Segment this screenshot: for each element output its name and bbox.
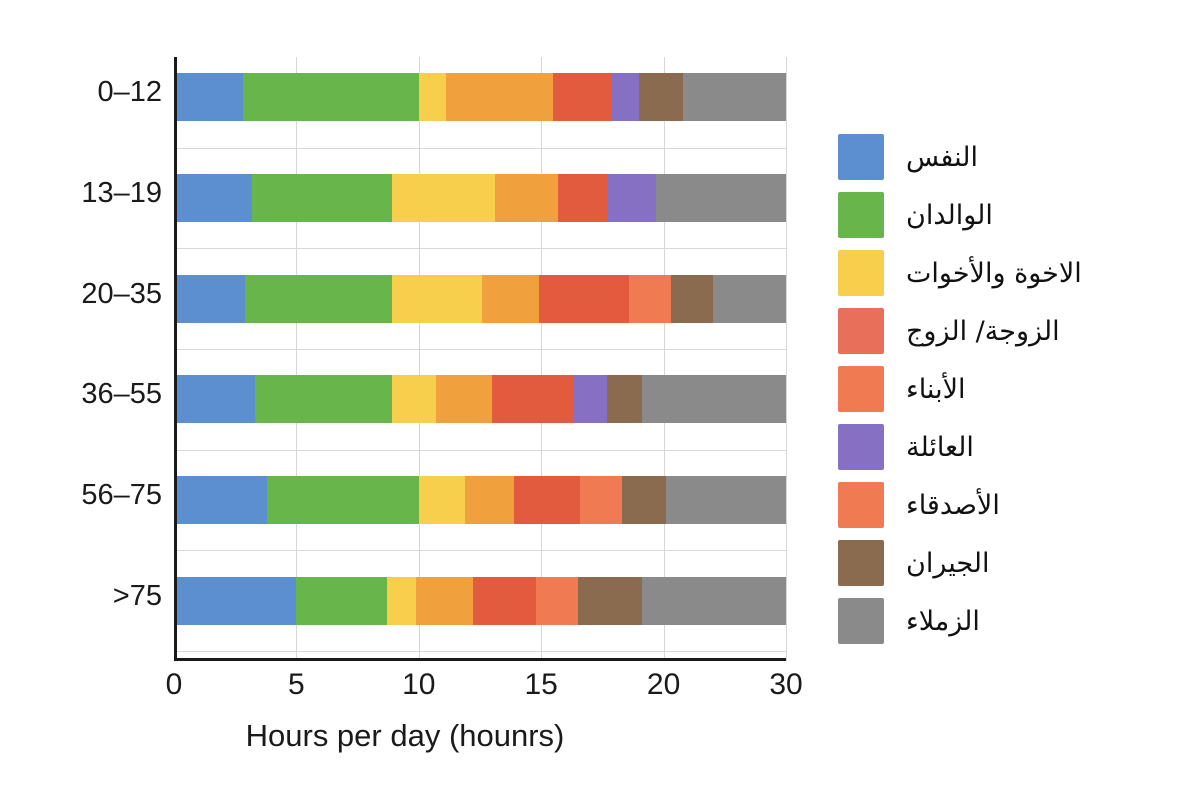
legend-swatch-icon [838, 482, 884, 528]
y-axis-tick-text: 13–19 [81, 177, 162, 210]
plot-area [174, 57, 786, 661]
x-axis-tick-label: 5 [288, 668, 305, 702]
legend-item[interactable]: الزوجة/ الزوج [838, 302, 1168, 360]
legend-swatch-icon [838, 424, 884, 470]
legend-item[interactable]: الجيران [838, 534, 1168, 592]
legend-swatch-icon [838, 250, 884, 296]
x-axis-label: Hours per day (hounrs) [0, 718, 810, 754]
y-axis-tick-text: >75 [113, 580, 162, 613]
legend-item-label: الزوجة/ الزوج [906, 316, 1060, 347]
legend-swatch-icon [838, 366, 884, 412]
x-axis-tick-label: 20 [647, 668, 680, 702]
y-axis-tick-text: 36–55 [81, 378, 162, 411]
legend-item[interactable]: العائلة [838, 418, 1168, 476]
legend-item-label: النفس [906, 142, 978, 173]
legend-item-label: الزملاء [906, 606, 980, 637]
x-axis-tick-label: 15 [525, 668, 558, 702]
legend-item[interactable]: النفس [838, 128, 1168, 186]
legend-item[interactable]: الزملاء [838, 592, 1168, 650]
y-axis-tick-text: 0–12 [97, 76, 162, 109]
x-axis-tick-label: 0 [166, 668, 183, 702]
y-axis-tick-text: 20–35 [81, 278, 162, 311]
legend-item-label: الأبناء [906, 374, 965, 405]
legend-swatch-icon [838, 192, 884, 238]
x-axis-tick-label: 10 [402, 668, 435, 702]
chart-root: 0–1213–1920–3536–5556–75>75 0510152030 H… [0, 0, 1200, 800]
legend-item-label: الوالدان [906, 200, 993, 231]
legend-item-label: الأصدقاء [906, 490, 1000, 521]
legend-swatch-icon [838, 540, 884, 586]
legend-item[interactable]: الوالدان [838, 186, 1168, 244]
legend-swatch-icon [838, 598, 884, 644]
legend-item-label: العائلة [906, 432, 974, 463]
gridline [786, 57, 787, 661]
legend-item-label: الجيران [906, 548, 990, 579]
legend-item[interactable]: الأصدقاء [838, 476, 1168, 534]
y-axis-tick-text: 56–75 [81, 479, 162, 512]
legend-item-label: الاخوة والأخوات [906, 258, 1082, 289]
legend-item[interactable]: الاخوة والأخوات [838, 244, 1168, 302]
plot-frame [174, 57, 786, 661]
legend-swatch-icon [838, 134, 884, 180]
legend-item[interactable]: الأبناء [838, 360, 1168, 418]
legend: النفسالوالدانالاخوة والأخواتالزوجة/ الزو… [838, 128, 1168, 650]
legend-swatch-icon [838, 308, 884, 354]
x-axis-tick-label: 30 [769, 668, 802, 702]
